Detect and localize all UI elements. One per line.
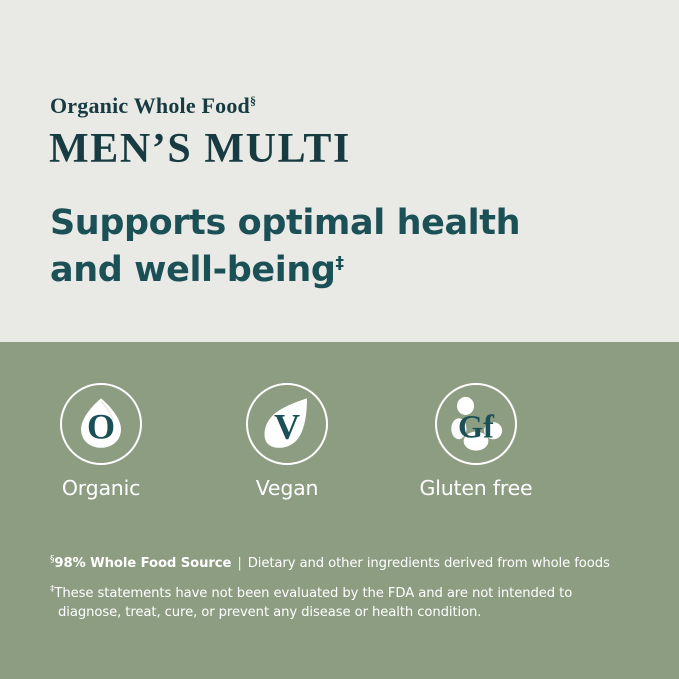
badge-label-vegan: Vegan bbox=[207, 476, 367, 500]
footnote-secondary-line-1: ‡These statements have not been evaluate… bbox=[50, 586, 650, 601]
footnote-separator: | bbox=[231, 556, 247, 571]
eyebrow-label: Organic Whole Food§ bbox=[50, 93, 256, 119]
footnote-primary-detail: Dietary and other ingredients derived fr… bbox=[248, 556, 610, 571]
tagline-line-1: Supports optimal health bbox=[50, 203, 520, 243]
product-marketing-panel: Organic Whole Food§ MEN’S MULTI Supports… bbox=[0, 0, 679, 679]
badge-label-gluten-free: Gluten free bbox=[396, 476, 556, 500]
tagline: Supports optimal health and well-being‡ bbox=[50, 200, 610, 294]
badge-gluten-free: Gf Gluten free bbox=[396, 383, 556, 500]
vegan-leaf-icon: V bbox=[248, 385, 326, 463]
badge-ring-vegan: V bbox=[246, 383, 328, 465]
footnote-whole-food-source: §98% Whole Food Source|Dietary and other… bbox=[50, 556, 650, 571]
badge-label-organic: Organic bbox=[21, 476, 181, 500]
footnote-secondary-line-2: diagnose, treat, cure, or prevent any di… bbox=[50, 605, 650, 620]
eyebrow-superscript-marker: § bbox=[250, 94, 256, 108]
footnote-primary-strong: 98% Whole Food Source bbox=[54, 556, 231, 571]
svg-text:O: O bbox=[87, 406, 115, 446]
footnote-secondary-text-1: These statements have not been evaluated… bbox=[54, 586, 572, 601]
svg-text:Gf: Gf bbox=[458, 408, 495, 444]
page-title: MEN’S MULTI bbox=[49, 128, 351, 170]
badge-ring-organic: O bbox=[60, 383, 142, 465]
header-section: Organic Whole Food§ MEN’S MULTI Supports… bbox=[0, 0, 679, 342]
tagline-line-2: and well-being bbox=[50, 250, 336, 290]
gluten-free-grain-icon: Gf bbox=[437, 385, 515, 463]
badge-organic: O Organic bbox=[21, 383, 181, 500]
certification-badge-row: O Organic V Vegan bbox=[0, 383, 679, 513]
footnotes: §98% Whole Food Source|Dietary and other… bbox=[50, 556, 650, 620]
footnote-fda-disclaimer: ‡These statements have not been evaluate… bbox=[50, 586, 650, 620]
eyebrow-text: Organic Whole Food bbox=[50, 93, 250, 118]
badge-ring-gluten-free: Gf bbox=[435, 383, 517, 465]
svg-text:V: V bbox=[274, 406, 300, 446]
organic-leaf-icon: O bbox=[62, 385, 140, 463]
tagline-superscript-marker: ‡ bbox=[336, 253, 344, 273]
badge-vegan: V Vegan bbox=[207, 383, 367, 500]
